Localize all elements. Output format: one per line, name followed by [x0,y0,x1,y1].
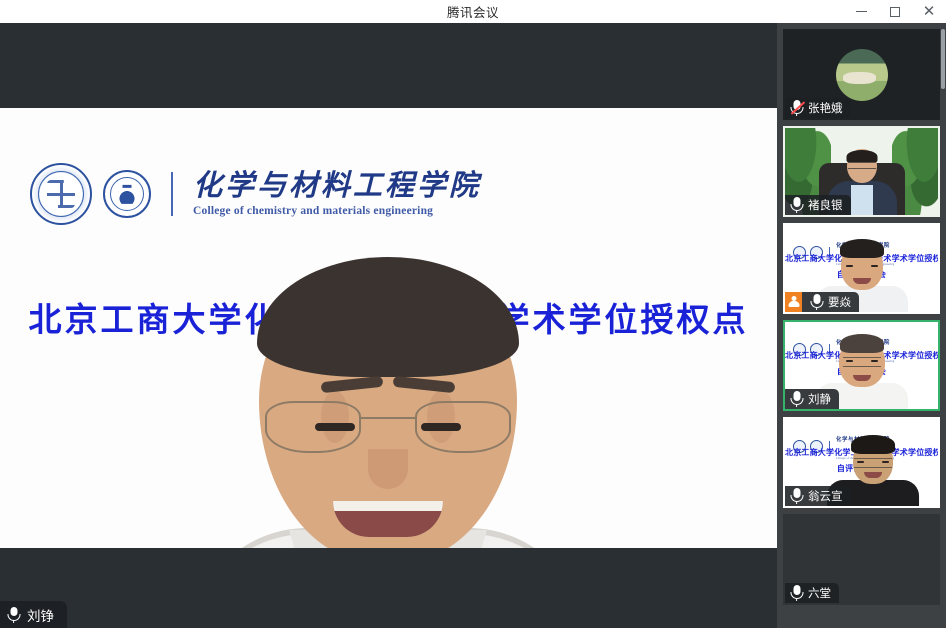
window-controls: ✕ [844,0,946,23]
participant-tile[interactable]: 化学与材料工程学院 College of chemistry and mater… [783,223,940,314]
participant-name-badge: 要焱 [785,292,859,312]
microphone-icon [790,488,803,504]
maximize-button[interactable] [878,0,912,23]
slide-logo-header: 化学与材料工程学院 College of chemistry and mater… [30,163,481,225]
host-person-icon [785,292,802,312]
window-title-bar[interactable]: 腾讯会议 ✕ [0,0,946,23]
microphone-muted-icon [790,100,803,116]
college-name-block: 化学与材料工程学院 College of chemistry and mater… [193,171,481,217]
microphone-icon [790,197,803,213]
filmstrip-scrollbar[interactable] [941,29,945,89]
college-name-en: College of chemistry and materials engin… [193,205,481,217]
presenter-video-overlay [188,263,588,548]
letterbox-top [0,23,777,108]
participant-tile[interactable]: 六堂 [783,514,940,605]
participant-name: 翁云宣 [808,488,843,504]
participant-shirt [851,185,873,215]
shared-screen-slide: 化学与材料工程学院 College of chemistry and mater… [0,108,777,548]
participant-name: 刘静 [808,391,831,407]
participant-name-badge: 张艳娥 [785,98,851,118]
university-seal-icon [30,163,92,225]
microphone-icon [7,607,20,623]
avatar [836,49,888,101]
main-speaker-name: 刘铮 [27,605,54,625]
microphone-icon [790,585,803,601]
app-title: 腾讯会议 [447,2,499,21]
college-name-cn: 化学与材料工程学院 [193,171,481,202]
participant-tile[interactable]: 张艳娥 [783,29,940,120]
letterbox-bottom [0,571,777,628]
maximize-icon [890,7,900,17]
minimize-icon [856,11,867,12]
main-speaker-name-badge: 刘铮 [0,601,67,628]
minimize-button[interactable] [844,0,878,23]
participant-name: 要焱 [828,294,851,310]
participant-tile[interactable]: 化学与材料工程学院 College of chemistry and mater… [783,417,940,508]
participant-name: 张艳娥 [808,100,843,116]
microphone-icon [810,294,823,310]
participant-tile-active-speaker[interactable]: 化学与材料工程学院 College of chemistry and mater… [783,320,940,411]
microphone-icon [790,391,803,407]
participant-name-badge: 翁云宣 [785,486,851,506]
participant-glasses [848,162,876,169]
close-button[interactable]: ✕ [912,0,946,23]
logo-divider [171,172,173,216]
participant-name: 褚良银 [808,197,843,213]
participant-tile[interactable]: 褚良银 [783,126,940,217]
main-video-stage[interactable]: 化学与材料工程学院 College of chemistry and mater… [0,23,777,628]
close-icon: ✕ [923,4,936,19]
participant-name-badge: 褚良银 [785,195,851,215]
participant-filmstrip[interactable]: 张艳娥 褚良银 化学与材料工程学院 College of chemistry a… [777,23,946,628]
college-flask-seal-icon [103,170,151,218]
participant-name-badge: 六堂 [785,583,839,603]
participant-name-badge: 刘静 [785,389,839,409]
participant-name: 六堂 [808,585,831,601]
